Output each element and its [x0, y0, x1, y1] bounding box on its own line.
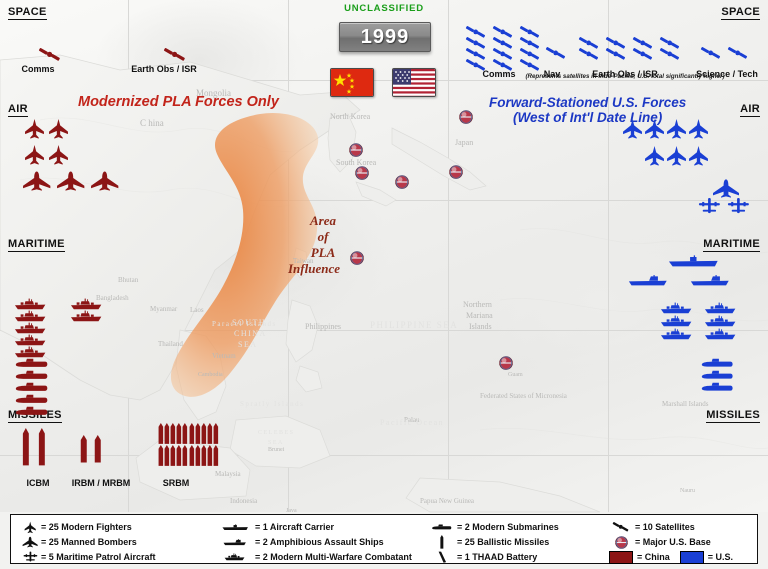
china-srbm-icon — [158, 423, 164, 444]
us-fighter-icon — [644, 118, 665, 139]
us-air-heading: AIR — [740, 103, 760, 117]
us-satellite-icon — [578, 48, 600, 60]
legend-text: = 2 Modern Multi-Warfare Combatant — [255, 552, 412, 562]
us-combatant-icon — [704, 302, 736, 314]
legend-row: = 2 Amphibious Assault Ships — [215, 535, 384, 549]
china-space-label-0: Comms — [0, 64, 108, 74]
legend-text: = 10 Satellites — [635, 522, 695, 532]
china-bomber-icon — [22, 170, 51, 191]
us-space-label-3: Science / Tech — [657, 69, 768, 79]
legend-text: = 2 Modern Submarines — [457, 522, 559, 532]
china-space-label-1: Earth Obs / ISR — [94, 64, 234, 74]
us-combatant-icon — [660, 315, 692, 327]
us-satellite-icon — [727, 47, 749, 59]
china-srbm-icon — [189, 423, 195, 444]
ballistic-missile-icon — [427, 535, 457, 549]
us-title-line-1: Forward-Stationed U.S. Forces — [489, 95, 686, 110]
legend-text: = 25 Modern Fighters — [41, 522, 132, 532]
china-fighter-icon — [24, 118, 45, 139]
china-fighter-icon — [24, 144, 45, 165]
legend-column-space-bases: = 10 Satellites= Major U.S. Base= China=… — [607, 515, 757, 563]
bomber-icon — [19, 535, 41, 549]
major-us-base-marker[interactable] — [499, 356, 513, 370]
us-fighter-icon — [688, 145, 709, 166]
thaad-icon — [427, 550, 457, 564]
major-us-base-marker[interactable] — [395, 175, 409, 189]
us-fighter-icon — [644, 145, 665, 166]
china-srbm-icon — [176, 423, 182, 444]
influence-line-4: Influence — [270, 261, 358, 277]
china-srbm-icon — [170, 445, 176, 466]
china-combatant-icon — [14, 346, 46, 358]
patrol-aircraft-icon — [19, 550, 41, 564]
us-satellite-icon — [545, 47, 567, 59]
china-combatant-icon — [14, 322, 46, 334]
us-bomber-icon — [712, 178, 740, 198]
china-combatant-icon — [14, 334, 46, 346]
china-srbm-icon — [201, 423, 207, 444]
us-satellite-icon — [632, 48, 654, 60]
legend-row: = 25 Ballistic Missiles — [427, 535, 549, 549]
china-combatant-icon — [14, 298, 46, 310]
legend-text: = 1 THAAD Battery — [457, 552, 537, 562]
us-carrier-icon — [668, 255, 720, 268]
china-srbm-icon — [182, 445, 188, 466]
influence-line-3: PLA — [288, 245, 358, 261]
us-fighter-icon — [666, 145, 687, 166]
china-srbm-icon — [164, 423, 170, 444]
china-satellite-icon — [163, 48, 187, 61]
classification-banner: UNCLASSIFIED — [0, 3, 768, 14]
us-patrol-aircraft-icon — [727, 197, 750, 214]
legend-column-subs-missiles: = 2 Modern Submarines= 25 Ballistic Miss… — [427, 515, 607, 563]
legend-text: = 25 Manned Bombers — [41, 537, 137, 547]
us-fighter-icon — [622, 118, 643, 139]
legend-text: = 5 Maritime Patrol Aircraft — [41, 552, 155, 562]
legend-text: = 2 Amphibious Assault Ships — [255, 537, 384, 547]
legend-row: = 2 Modern Submarines — [427, 520, 559, 534]
legend-row: = 25 Modern Fighters — [19, 520, 132, 534]
us-submarine-icon — [700, 382, 734, 392]
legend-row: = 5 Maritime Patrol Aircraft — [19, 550, 155, 564]
china-title: Modernized PLA Forces Only — [78, 94, 279, 110]
china-air-heading: AIR — [8, 103, 28, 117]
us-combatant-icon — [660, 302, 692, 314]
legend-panel: = 25 Modern Fighters= 25 Manned Bombers=… — [10, 514, 758, 564]
us-satellite-icon — [700, 47, 722, 59]
carrier-icon — [215, 520, 255, 534]
china-srbm-icon — [182, 423, 188, 444]
china-swatch — [609, 551, 633, 564]
us-space-heading: SPACE — [721, 6, 760, 20]
china-bomber-icon — [90, 170, 119, 191]
us-submarine-icon — [700, 370, 734, 380]
fighter-icon — [19, 520, 41, 534]
legend-row: = 1 THAAD Battery — [427, 550, 537, 564]
us-amphibious-ship-icon — [628, 275, 668, 286]
legend-swatch-text: = U.S. — [708, 552, 733, 562]
china-irbm-icon — [80, 435, 88, 463]
us-combatant-icon — [704, 328, 736, 340]
us-fighter-icon — [666, 118, 687, 139]
china-srbm-icon — [176, 445, 182, 466]
us-combatant-icon — [660, 328, 692, 340]
us-patrol-aircraft-icon — [698, 197, 721, 214]
combatant-icon — [215, 550, 255, 564]
china-srbm-icon — [189, 445, 195, 466]
us-amphibious-ship-icon — [690, 275, 730, 286]
china-icbm-icon — [38, 428, 46, 465]
china-submarine-icon — [14, 370, 49, 380]
china-srbm-icon — [213, 445, 219, 466]
china-submarine-icon — [14, 358, 49, 368]
china-srbm-icon — [201, 445, 207, 466]
us-satellite-icon — [659, 48, 681, 60]
us-combatant-icon — [704, 315, 736, 327]
china-fighter-icon — [48, 118, 69, 139]
china-srbm-icon — [164, 445, 170, 466]
china-space-heading: SPACE — [8, 6, 47, 20]
legend-text: = 1 Aircraft Carrier — [255, 522, 334, 532]
legend-row: = 10 Satellites — [607, 520, 695, 534]
china-maritime-heading: MARITIME — [8, 238, 65, 252]
us-swatch — [680, 551, 704, 564]
china-submarine-icon — [14, 394, 49, 404]
china-icbm-icon — [22, 428, 30, 465]
influence-line-2: of — [288, 229, 358, 245]
base-marker-icon — [607, 535, 635, 549]
legend-text: = 25 Ballistic Missiles — [457, 537, 549, 547]
us-fighter-icon — [688, 118, 709, 139]
submarine-icon — [427, 520, 457, 534]
major-us-base-marker[interactable] — [449, 165, 463, 179]
amphibious-ship-icon — [215, 535, 255, 549]
major-us-base-marker[interactable] — [355, 166, 369, 180]
legend-column-aircraft: = 25 Modern Fighters= 25 Manned Bombers=… — [19, 515, 215, 563]
china-fighter-icon — [48, 144, 69, 165]
legend-text: = Major U.S. Base — [635, 537, 711, 547]
legend-swatch-text: = China — [637, 552, 670, 562]
major-us-base-marker[interactable] — [350, 251, 364, 265]
china-submarine-icon — [14, 382, 49, 392]
infographic-root: MongoliaC hinaNorth KoreaSouth KoreaJapa… — [0, 0, 768, 569]
china-srbm-icon — [195, 445, 201, 466]
major-us-base-marker[interactable] — [349, 143, 363, 157]
china-combatant-icon — [70, 298, 102, 310]
legend-row-swatches: = China= U.S. — [607, 550, 733, 564]
us-maritime-heading: MARITIME — [703, 238, 760, 252]
china-missile-label-srbm: SRBM — [106, 478, 246, 488]
legend-row: = Major U.S. Base — [607, 535, 711, 549]
year-indicator[interactable]: 1999 — [339, 22, 431, 52]
pla-influence-label: Area of PLA Influence — [288, 213, 358, 277]
china-srbm-icon — [207, 423, 213, 444]
china-srbm-icon — [213, 423, 219, 444]
china-srbm-icon — [195, 423, 201, 444]
us-missiles-heading: MISSILES — [706, 409, 760, 423]
legend-row: = 2 Modern Multi-Warfare Combatant — [215, 550, 412, 564]
china-combatant-icon — [70, 310, 102, 322]
legend-row: = 1 Aircraft Carrier — [215, 520, 334, 534]
year-value: 1999 — [361, 26, 410, 49]
us-satellite-icon — [605, 48, 627, 60]
china-combatant-icon — [14, 310, 46, 322]
china-srbm-icon — [207, 445, 213, 466]
china-satellite-icon — [38, 48, 62, 61]
us-submarine-icon — [700, 358, 734, 368]
china-srbm-icon — [158, 445, 164, 466]
china-submarine-icon — [14, 406, 49, 416]
china-srbm-icon — [170, 423, 176, 444]
satellite-icon — [607, 520, 635, 534]
legend-column-ships: = 1 Aircraft Carrier= 2 Amphibious Assau… — [215, 515, 427, 563]
china-irbm-icon — [94, 435, 102, 463]
china-flag — [330, 68, 374, 97]
legend-row: = 25 Manned Bombers — [19, 535, 137, 549]
influence-line-1: Area — [288, 213, 358, 229]
china-bomber-icon — [56, 170, 85, 191]
major-us-base-marker[interactable] — [459, 110, 473, 124]
